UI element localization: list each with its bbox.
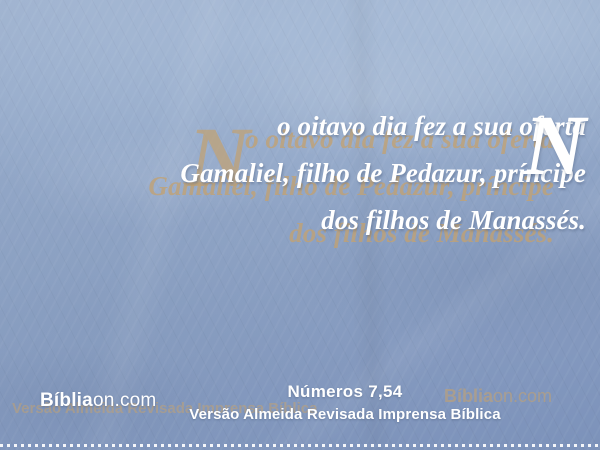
reference-version: Versão Almeida Revisada Imprensa Bíblica [150,406,540,423]
footer: Bíbliaon.com Versão Almeida Revisada Imp… [0,378,600,450]
verse-text-layer: o oitavo dia fez a sua oferta Gamaliel, … [0,103,600,244]
bottom-dashed-rule [0,444,600,447]
brand-logo[interactable]: Bíbliaon.com [40,390,156,412]
brand-light: on.com [93,390,157,411]
verse-image-canvas: o oitavo dia fez a sua oferta Gamaliel, … [0,0,600,450]
verse-line-3: dos filhos de Manassés. [0,197,600,244]
reference-citation: Números 7,54 [150,382,540,402]
brand-bold: Bíblia [40,390,93,411]
verse-line-1: o oitavo dia fez a sua oferta [0,103,600,150]
verse-dropcap: N [524,102,586,188]
verse-line-2: Gamaliel, filho de Pedazur, príncipe [0,150,600,197]
reference-block: Números 7,54 Versão Almeida Revisada Imp… [150,382,540,423]
